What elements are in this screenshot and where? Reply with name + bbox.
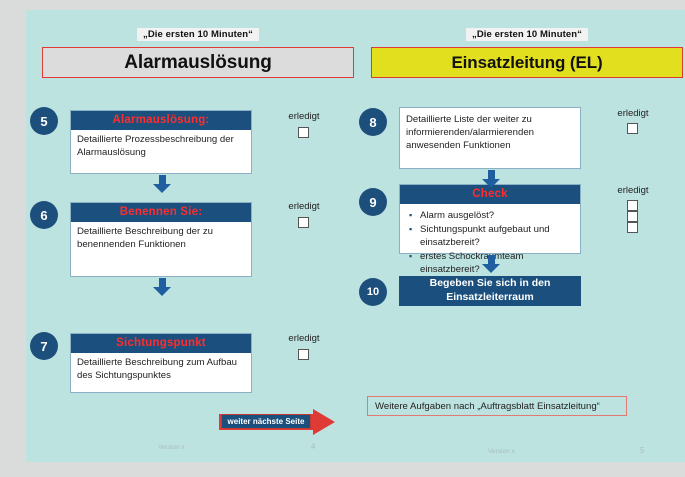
next-page-arrow[interactable]: weiter nächste Seite — [219, 409, 335, 435]
step-number-6: 6 — [30, 201, 58, 229]
slide-kicker-right: „Die ersten 10 Minuten“ — [466, 28, 588, 41]
next-page-label: weiter nächste Seite — [221, 414, 311, 429]
list-item: Sichtungspunkt aufgebaut und einsatzbere… — [420, 224, 574, 250]
flow-arrow-8-9 — [481, 170, 501, 188]
footer-version-left: Version x — [158, 444, 185, 451]
erledigt-label-5: erledigt — [284, 111, 324, 122]
step-card-5-header: Alarmauslösung: — [71, 111, 251, 130]
step-card-7-body: Detaillierte Beschreibung zum Aufbau des… — [71, 353, 251, 383]
step-number-8: 8 — [359, 108, 387, 136]
step-card-9: Check Alarm ausgelöst? Sichtungspunkt au… — [399, 184, 581, 254]
step-card-10: Begeben Sie sich in den Einsatzleiterrau… — [399, 276, 581, 306]
erledigt-label-7: erledigt — [284, 333, 324, 344]
step-card-8-body: Detaillierte Liste der weiter zu informi… — [400, 108, 580, 153]
footer-version-right: Version x — [488, 448, 515, 455]
erledigt-checkbox-6[interactable] — [298, 217, 309, 228]
step-card-6-header: Benennen Sie: — [71, 203, 251, 222]
erledigt-checkbox-9a[interactable] — [627, 200, 638, 211]
erledigt-label-9: erledigt — [613, 185, 653, 196]
slide-kicker: „Die ersten 10 Minuten“ — [137, 28, 259, 41]
list-item: Alarm ausgelöst? — [420, 210, 574, 223]
step-number-10: 10 — [359, 278, 387, 306]
flow-arrow-9-10 — [481, 255, 501, 273]
flow-arrow-5-6 — [152, 175, 172, 193]
footer-page-left: 4 — [311, 442, 315, 451]
flow-arrow-6-7 — [152, 278, 172, 296]
erledigt-label-6: erledigt — [284, 201, 324, 212]
step-card-7: Sichtungspunkt Detaillierte Beschreibung… — [70, 333, 252, 393]
step-card-6-body: Detaillierte Beschreibung der zu benenne… — [71, 222, 251, 252]
step-number-5: 5 — [30, 107, 58, 135]
step-card-5: Alarmauslösung: Detaillierte Prozessbesc… — [70, 110, 252, 174]
slide-title-box: Alarmauslösung — [42, 47, 354, 78]
erledigt-checkbox-7[interactable] — [298, 349, 309, 360]
erledigt-label-8: erledigt — [613, 108, 653, 119]
slide-alarmausloesung: „Die ersten 10 Minuten“ Alarmauslösung 5… — [26, 10, 370, 462]
step-card-5-body: Detaillierte Prozessbeschreibung der Ala… — [71, 130, 251, 160]
step-card-7-header: Sichtungspunkt — [71, 334, 251, 353]
slide-title-box-right: Einsatzleitung (EL) — [371, 47, 683, 78]
step-card-6: Benennen Sie: Detaillierte Beschreibung … — [70, 202, 252, 277]
erledigt-checkbox-5[interactable] — [298, 127, 309, 138]
erledigt-checkbox-9b[interactable] — [627, 211, 638, 222]
step-card-8: Detaillierte Liste der weiter zu informi… — [399, 107, 581, 169]
erledigt-checkbox-8[interactable] — [627, 123, 638, 134]
erledigt-checkbox-9c[interactable] — [627, 222, 638, 233]
page-title-right: Einsatzleitung (EL) — [451, 53, 602, 73]
slide-einsatzleitung: „Die ersten 10 Minuten“ Einsatzleitung (… — [355, 10, 685, 462]
page-title: Alarmauslösung — [124, 52, 271, 74]
footer-page-right: 5 — [640, 446, 644, 455]
step-number-7: 7 — [30, 332, 58, 360]
step-number-9: 9 — [359, 188, 387, 216]
weitere-aufgaben-note: Weitere Aufgaben nach „Auftragsblatt Ein… — [367, 396, 627, 416]
